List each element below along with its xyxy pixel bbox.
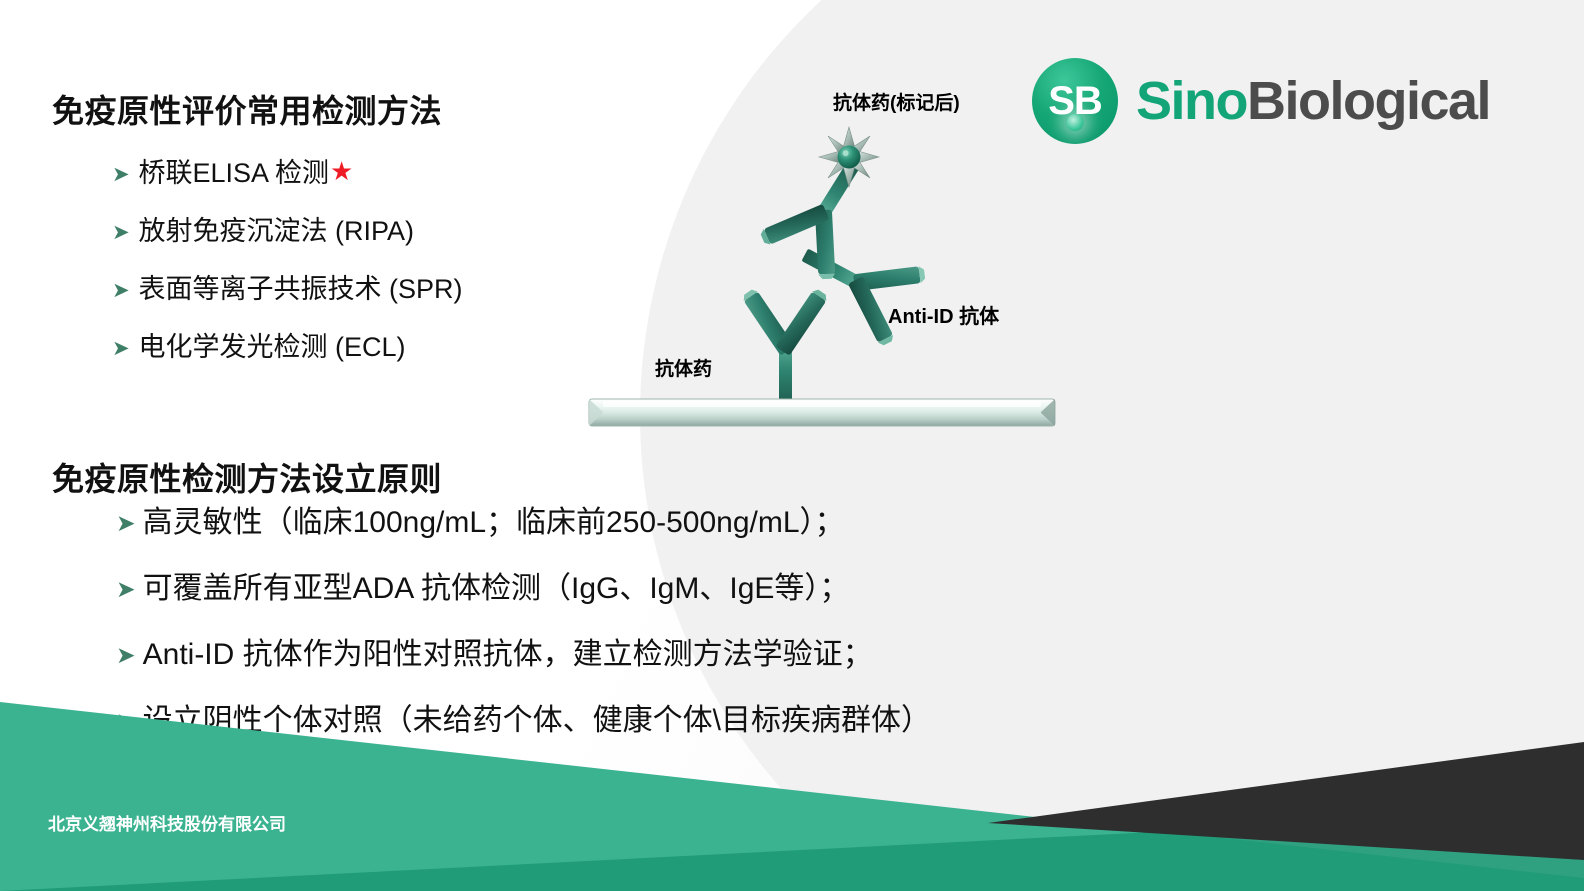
chevron-bullet-icon: ➤ — [112, 164, 130, 185]
chevron-bullet-icon: ➤ — [116, 644, 136, 667]
chevron-bullet-icon: ➤ — [116, 578, 136, 601]
list-item-label: 表面等离子共振技术 (SPR) — [138, 276, 462, 303]
section2-heading: 免疫原性检测方法设立原则 — [52, 454, 442, 500]
list-item-label: 电化学发光检测 (ECL) — [138, 334, 405, 361]
logo-word-biological: Biological — [1247, 71, 1490, 131]
sb-monogram-text: SB — [1032, 58, 1118, 144]
list-item-label: 可覆盖所有亚型ADA 抗体检测（IgG、IgM、IgE等）； — [143, 574, 850, 604]
list-item-label: Anti-ID 抗体作为阳性对照抗体，建立检测方法学验证； — [143, 640, 873, 670]
list-item: ➤ 放射免疫沉淀法 (RIPA) — [112, 218, 462, 245]
list-item-label: 桥联ELISA 检测 — [138, 160, 329, 187]
sino-biological-logo: SB SinoBiological — [1032, 58, 1490, 144]
label-labeled-antibody-drug: 抗体药(标记后) — [833, 88, 960, 115]
list-item: ➤ 表面等离子共振技术 (SPR) — [112, 276, 462, 303]
logo-word-sino: Sino — [1136, 71, 1247, 131]
chevron-bullet-icon: ➤ — [112, 280, 130, 301]
chevron-bullet-icon: ➤ — [112, 222, 130, 243]
list-item: ➤ Anti-ID 抗体作为阳性对照抗体，建立检测方法学验证； — [116, 640, 931, 670]
logo-dot-icon — [1067, 114, 1084, 131]
section1-bullet-list: ➤ 桥联ELISA 检测 ★ ➤ 放射免疫沉淀法 (RIPA) ➤ 表面等离子共… — [112, 160, 462, 392]
label-anti-id-antibody: Anti-ID 抗体 — [888, 300, 999, 329]
chevron-bullet-icon: ➤ — [112, 338, 130, 359]
footer-company-name: 北京义翘神州科技股份有限公司 — [48, 810, 286, 835]
logo-wordmark: SinoBiological — [1136, 74, 1490, 128]
chevron-bullet-icon: ➤ — [116, 512, 136, 535]
list-item-label: 高灵敏性（临床100ng/mL；临床前250-500ng/mL）； — [143, 508, 845, 538]
footer-decoration — [0, 690, 1584, 891]
list-item-label: 放射免疫沉淀法 (RIPA) — [138, 218, 414, 245]
slide-canvas: 免疫原性评价常用检测方法 ➤ 桥联ELISA 检测 ★ ➤ 放射免疫沉淀法 (R… — [0, 0, 1584, 891]
list-item: ➤ 可覆盖所有亚型ADA 抗体检测（IgG、IgM、IgE等）； — [116, 574, 931, 604]
star-icon: ★ — [330, 160, 353, 186]
list-item: ➤ 桥联ELISA 检测 ★ — [112, 160, 462, 187]
list-item: ➤ 电化学发光检测 (ECL) — [112, 334, 462, 361]
sb-monogram-icon: SB — [1032, 58, 1118, 144]
label-antibody-drug: 抗体药 — [655, 354, 712, 381]
section1-heading: 免疫原性评价常用检测方法 — [52, 86, 442, 132]
list-item: ➤ 高灵敏性（临床100ng/mL；临床前250-500ng/mL）； — [116, 508, 931, 538]
